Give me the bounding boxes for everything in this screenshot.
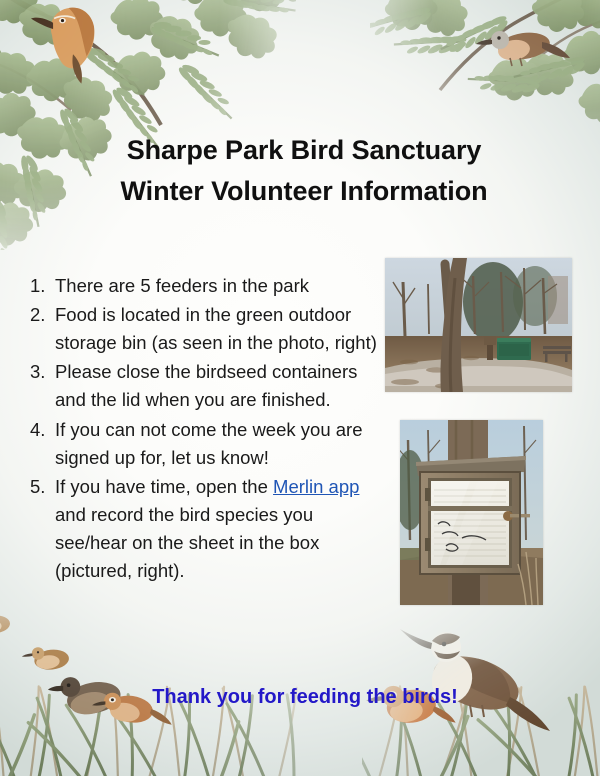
bird-top-right — [476, 30, 570, 66]
instructions-list: There are 5 feeders in the park Food is … — [30, 272, 382, 585]
merlin-app-link[interactable]: Merlin app — [273, 476, 359, 497]
bird-bottom-right-wren — [400, 629, 550, 731]
grass-bottom-left-decoration — [0, 592, 320, 776]
list-item-2-text: Food is located in the green outdoor sto… — [55, 304, 377, 353]
bird-top-left — [31, 8, 94, 84]
list-item-2: Food is located in the green outdoor sto… — [30, 301, 382, 357]
sign-box-photo — [400, 420, 543, 605]
list-item-1-text: There are 5 feeders in the park — [55, 275, 309, 296]
list-item-4: If you can not come the week you are sig… — [30, 416, 382, 472]
list-item-5: If you have time, open the Merlin app an… — [30, 473, 382, 585]
list-item-4-text: If you can not come the week you are sig… — [55, 419, 362, 468]
foliage-top-left-decoration — [0, 0, 296, 250]
poster-page: Sharpe Park Bird Sanctuary Winter Volunt… — [0, 0, 600, 776]
park-storage-bin-photo — [385, 258, 572, 392]
title-line-1: Sharpe Park Bird Sanctuary — [8, 130, 600, 171]
list-item-5-text-before: If you have time, open the — [55, 476, 273, 497]
instructions-list-wrapper: There are 5 feeders in the park Food is … — [30, 272, 382, 586]
bird-bottom-left-c — [22, 647, 70, 671]
title-line-2: Winter Volunteer Information — [8, 171, 600, 212]
list-item-3: Please close the birdseed containers and… — [30, 358, 382, 414]
list-item-5-text-after: and record the bird species you see/hear… — [55, 504, 319, 581]
bird-bottom-left-d — [0, 613, 11, 634]
list-item-3-text: Please close the birdseed containers and… — [55, 361, 357, 410]
list-item-1: There are 5 feeders in the park — [30, 272, 382, 300]
closing-message: Thank you for feeding the birds! — [0, 686, 600, 709]
poster-title: Sharpe Park Bird Sanctuary Winter Volunt… — [0, 130, 600, 212]
